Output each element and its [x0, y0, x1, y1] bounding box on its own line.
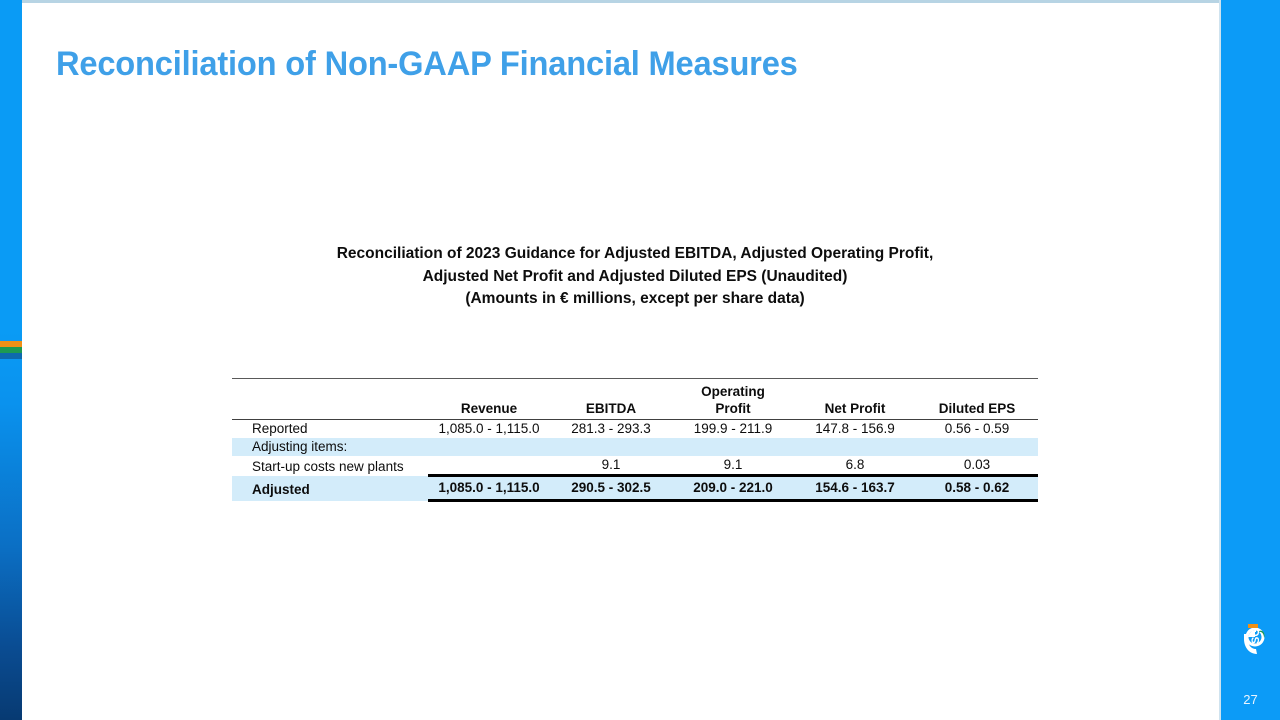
brand-name-label: Stevanato Group [1162, 498, 1221, 604]
caption-line-3: (Amounts in € millions, except per share… [232, 288, 1038, 311]
cell-adjusting-ebitda [550, 438, 672, 456]
table-caption: Reconciliation of 2023 Guidance for Adju… [232, 243, 1038, 311]
sidebar-brand-block: Stevanato Group [1162, 498, 1221, 628]
header-label [232, 383, 428, 420]
page-title: Reconciliation of Non-GAAP Financial Mea… [56, 45, 798, 84]
cell-adjusted-operating-profit: 209.0 - 221.0 [672, 476, 794, 501]
row-label-adjusted: Adjusted [232, 476, 428, 501]
row-label-reported: Reported [232, 420, 428, 438]
cell-startup-revenue [428, 456, 550, 476]
header-ebitda: EBITDA [550, 383, 672, 420]
header-operating-profit-line1: Operating [701, 384, 765, 399]
slide-canvas: Reconciliation of Non-GAAP Financial Mea… [0, 0, 1280, 720]
stevanato-group-logo-icon: SG [1233, 616, 1273, 660]
cell-adjusted-revenue: 1,085.0 - 1,115.0 [428, 476, 550, 501]
cell-adjusted-net-profit: 154.6 - 163.7 [794, 476, 916, 501]
header-revenue: Revenue [428, 383, 550, 420]
cell-startup-net-profit: 6.8 [794, 456, 916, 476]
page-number: 27 [1221, 692, 1280, 707]
cell-startup-diluted-eps: 0.03 [916, 456, 1038, 476]
header-operating-profit: Operating Profit [672, 383, 794, 420]
row-label-adjusting-items: Adjusting items: [232, 438, 428, 456]
header-diluted-eps: Diluted EPS [916, 383, 1038, 420]
cell-reported-operating-profit: 199.9 - 211.9 [672, 420, 794, 438]
right-sidebar: Stevanato Group SG 27 [1221, 0, 1280, 720]
left-accent-stripe [0, 0, 22, 720]
table-row: Adjusting items: [232, 438, 1038, 456]
table-row: Reported 1,085.0 - 1,115.0 281.3 - 293.3… [232, 420, 1038, 438]
header-net-profit: Net Profit [794, 383, 916, 420]
cell-adjusting-net-profit [794, 438, 916, 456]
caption-line-1: Reconciliation of 2023 Guidance for Adju… [232, 243, 1038, 266]
cell-startup-operating-profit: 9.1 [672, 456, 794, 476]
header-operating-profit-line2: Profit [715, 401, 750, 416]
cell-reported-revenue: 1,085.0 - 1,115.0 [428, 420, 550, 438]
reconciliation-table: Revenue EBITDA Operating Profit Net Prof… [232, 378, 1038, 502]
table-total-row: Adjusted 1,085.0 - 1,115.0 290.5 - 302.5… [232, 476, 1038, 501]
cell-adjusting-diluted-eps [916, 438, 1038, 456]
stripe-accent-blue [0, 353, 22, 359]
caption-line-2: Adjusted Net Profit and Adjusted Diluted… [232, 266, 1038, 289]
cell-adjusted-ebitda: 290.5 - 302.5 [550, 476, 672, 501]
reconciliation-table-container: Revenue EBITDA Operating Profit Net Prof… [232, 378, 1038, 502]
cell-adjusting-operating-profit [672, 438, 794, 456]
cell-reported-ebitda: 281.3 - 293.3 [550, 420, 672, 438]
cell-reported-diluted-eps: 0.56 - 0.59 [916, 420, 1038, 438]
table-row: Start-up costs new plants 9.1 9.1 6.8 0.… [232, 456, 1038, 476]
row-label-startup-costs: Start-up costs new plants [232, 456, 428, 476]
cell-startup-ebitda: 9.1 [550, 456, 672, 476]
cell-adjusted-diluted-eps: 0.58 - 0.62 [916, 476, 1038, 501]
top-border-rule [0, 0, 1280, 3]
cell-adjusting-revenue [428, 438, 550, 456]
cell-reported-net-profit: 147.8 - 156.9 [794, 420, 916, 438]
svg-text:SG: SG [1250, 628, 1262, 644]
table-header-row: Revenue EBITDA Operating Profit Net Prof… [232, 383, 1038, 420]
deck-title-label: Q4 and Full Year 2022 Financial Results [1162, 160, 1221, 391]
